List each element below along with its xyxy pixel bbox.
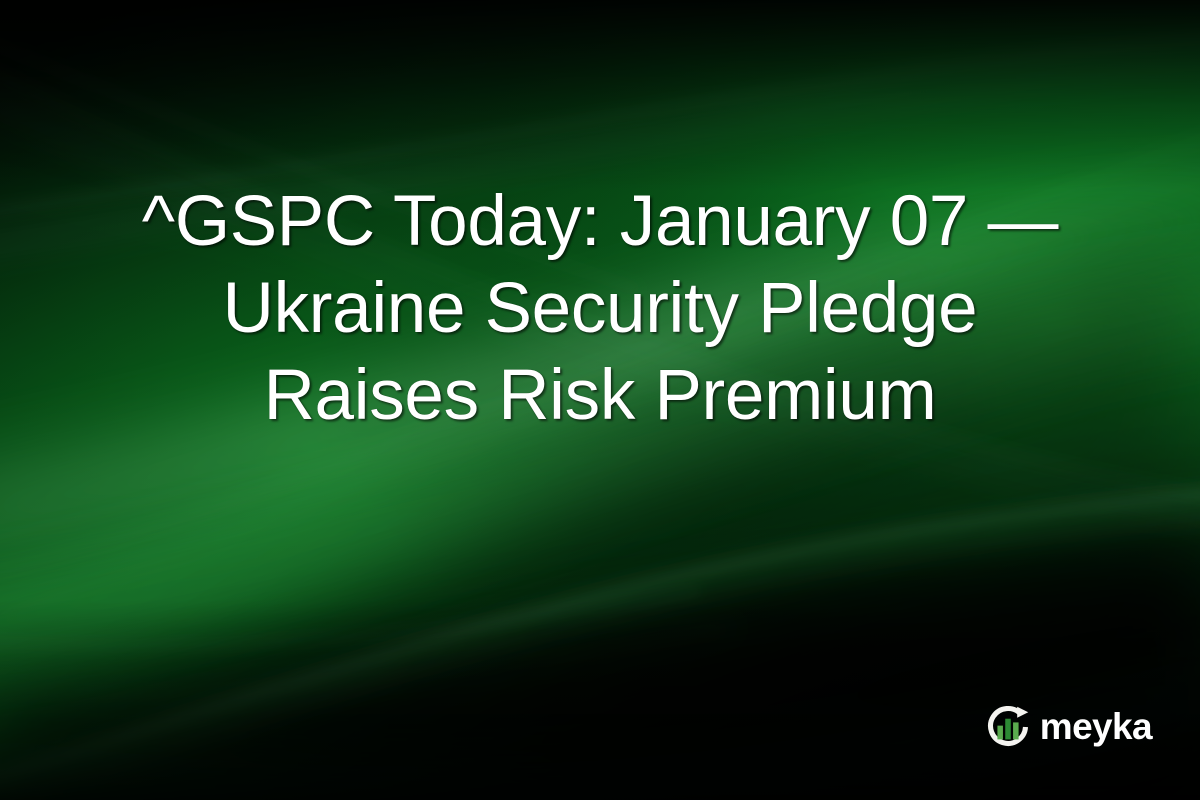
- meyka-circular-bar-chart-icon: [985, 704, 1031, 750]
- headline-line-2: Ukraine Security Pledge: [60, 265, 1140, 352]
- headline: ^GSPC Today: January 07 — Ukraine Securi…: [60, 178, 1140, 439]
- meyka-logo[interactable]: meyka: [985, 704, 1152, 750]
- meyka-wordmark: meyka: [1040, 708, 1152, 747]
- headline-line-1: ^GSPC Today: January 07 —: [60, 178, 1140, 265]
- news-share-card: ^GSPC Today: January 07 — Ukraine Securi…: [0, 0, 1200, 800]
- headline-line-3: Raises Risk Premium: [60, 352, 1140, 439]
